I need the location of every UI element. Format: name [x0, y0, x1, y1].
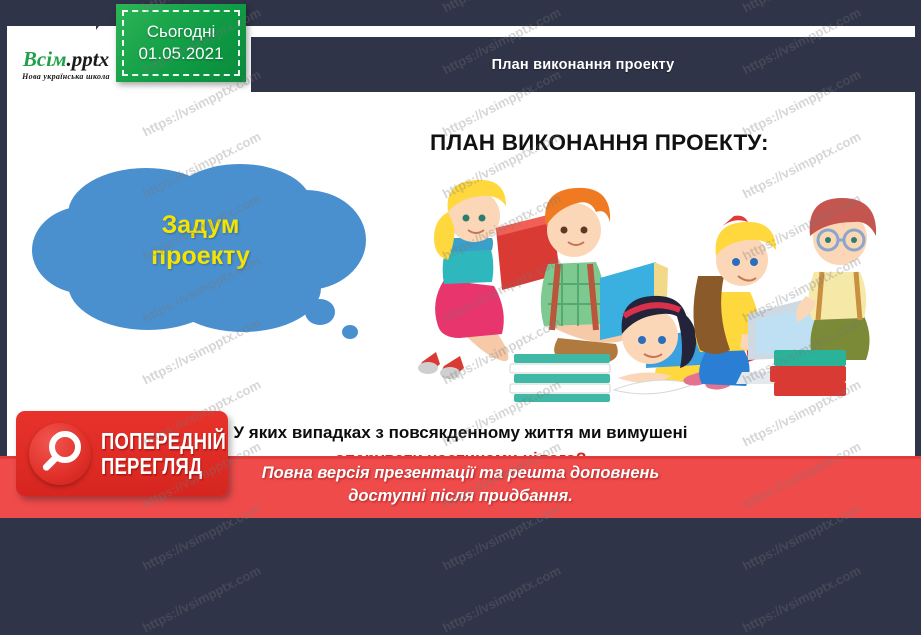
- logo-brand-first: Всім: [23, 47, 67, 71]
- logo-tagline: Нова українська школа: [22, 72, 110, 81]
- page-title: ПЛАН ВИКОНАННЯ ПРОЕКТУ:: [430, 130, 769, 156]
- frame-left: [0, 0, 7, 518]
- date-badge-wrapper: Сьогодні 01.05.2021: [112, 0, 252, 92]
- today-date-badge: Сьогодні 01.05.2021: [116, 4, 246, 82]
- watermark-text: https://vsimpptx.com: [140, 556, 276, 635]
- slide-header-title: План виконання проекту: [492, 57, 675, 73]
- cloud-label: Задум проекту: [28, 210, 373, 271]
- thought-cloud-shape: Задум проекту: [28, 162, 373, 340]
- preview-line-1: ПОПЕРЕДНІЙ: [101, 427, 226, 453]
- children-reading-books-illustration: [378, 168, 888, 403]
- slide-header-bar: План виконання проекту: [251, 37, 915, 92]
- preview-badge-label: ПОПЕРЕДНІЙ ПЕРЕГЛЯД: [101, 429, 226, 479]
- question-line-1: У яких випадках з повсякденному життя ми…: [234, 423, 688, 442]
- watermark-text: https://vsimpptx.com: [440, 556, 576, 635]
- magnifier-icon: [29, 423, 91, 485]
- watermark-text: https://vsimpptx.com: [740, 556, 876, 635]
- date-badge-value: 01.05.2021: [138, 43, 223, 65]
- badge-corner-fold: [96, 0, 118, 30]
- logo-brand-second: .pptx: [66, 47, 109, 71]
- preview-line-2: ПЕРЕГЛЯД: [101, 452, 202, 478]
- frame-right: [915, 0, 921, 518]
- logo-wordmark: Всім.pptx: [23, 49, 109, 70]
- preview-badge: ПОПЕРЕДНІЙ ПЕРЕГЛЯД: [16, 411, 228, 496]
- brand-logo: Всім.pptx Нова українська школа: [7, 37, 125, 92]
- presentation-slide: ПЛАН ВИКОНАННЯ ПРОЕКТУ: Задум проекту: [0, 0, 921, 518]
- date-badge-label: Сьогодні: [147, 21, 216, 43]
